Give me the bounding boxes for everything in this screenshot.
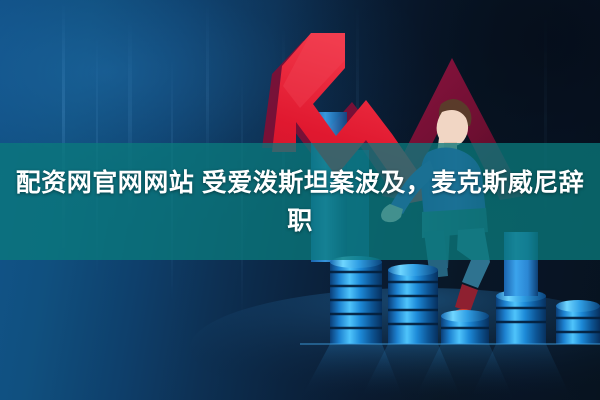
headline-text: 配资网官网网站 受爱泼斯坦案波及，麦克斯威尼辞职	[14, 164, 586, 240]
coin-stack-5	[330, 256, 382, 344]
coin-stack-1	[556, 300, 600, 344]
coin-stack-4	[388, 264, 438, 344]
coin-stack-3	[441, 310, 489, 344]
headline-band: 配资网官网网站 受爱泼斯坦案波及，麦克斯威尼辞职	[0, 143, 600, 260]
thumbnail-canvas: 配资网官网网站 受爱泼斯坦案波及，麦克斯威尼辞职	[0, 0, 600, 400]
coin-stack-2	[496, 290, 546, 344]
